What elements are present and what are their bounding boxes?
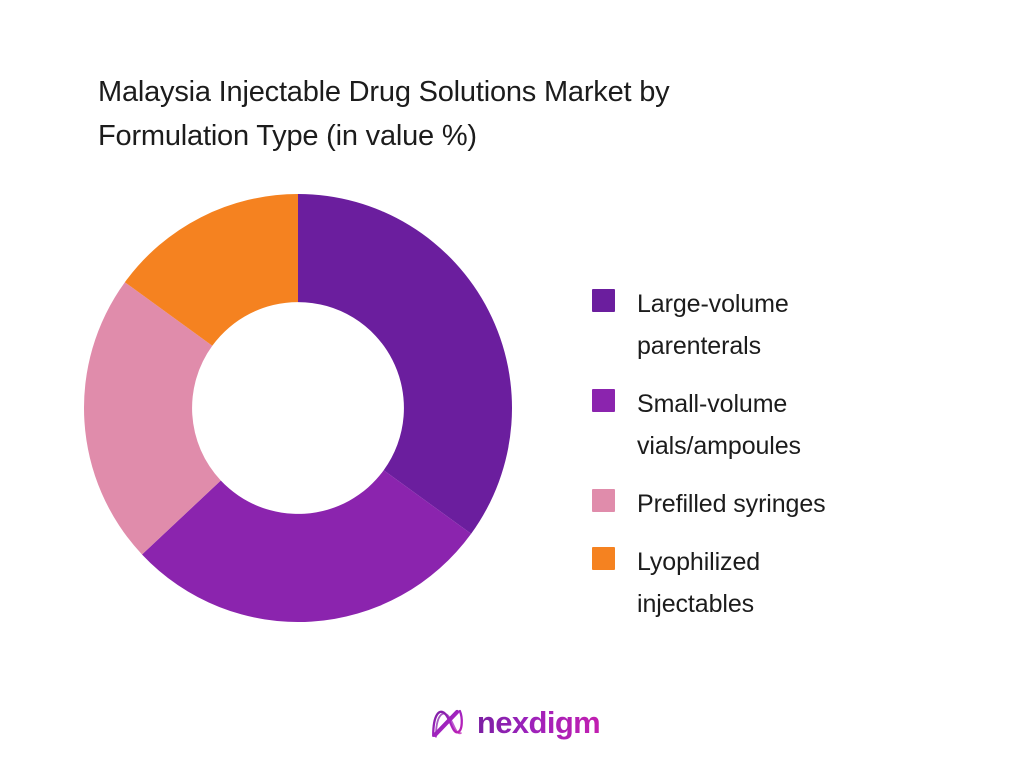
legend-item-label: Prefilled syringes — [637, 483, 826, 525]
legend-item[interactable]: Small-volumevials/ampoules — [592, 383, 952, 467]
legend-swatch-icon — [592, 389, 615, 412]
legend-item-label: Large-volumeparenterals — [637, 283, 789, 367]
chart-legend: Large-volumeparenteralsSmall-volumevials… — [592, 283, 952, 625]
donut-slice[interactable] — [298, 194, 512, 534]
legend-item-label-line: injectables — [637, 583, 760, 625]
donut-slice-group — [84, 194, 512, 622]
legend-item-label-line: Small-volume — [637, 383, 801, 425]
legend-swatch-icon — [592, 547, 615, 570]
legend-item-label-line: Prefilled syringes — [637, 483, 826, 525]
page-title-line-1: Malaysia Injectable Drug Solutions Marke… — [98, 70, 888, 114]
legend-item-label-line: parenterals — [637, 325, 789, 367]
footer-brand: nexdigm — [0, 700, 1024, 746]
page-title-line-2: Formulation Type (in value %) — [98, 114, 888, 158]
legend-swatch-icon — [592, 289, 615, 312]
legend-item[interactable]: Large-volumeparenterals — [592, 283, 952, 367]
page-title: Malaysia Injectable Drug Solutions Marke… — [98, 70, 888, 158]
legend-item-label: Small-volumevials/ampoules — [637, 383, 801, 467]
legend-item[interactable]: Prefilled syringes — [592, 483, 952, 525]
legend-item-label-line: Lyophilized — [637, 541, 760, 583]
brand-wordmark: nexdigm — [477, 700, 600, 746]
nexdigm-n-mark-icon — [424, 700, 470, 746]
donut-chart-svg — [84, 194, 512, 622]
legend-swatch-icon — [592, 489, 615, 512]
legend-item-label: Lyophilizedinjectables — [637, 541, 760, 625]
legend-item[interactable]: Lyophilizedinjectables — [592, 541, 952, 625]
donut-chart — [84, 194, 512, 622]
legend-item-label-line: vials/ampoules — [637, 425, 801, 467]
legend-item-label-line: Large-volume — [637, 283, 789, 325]
